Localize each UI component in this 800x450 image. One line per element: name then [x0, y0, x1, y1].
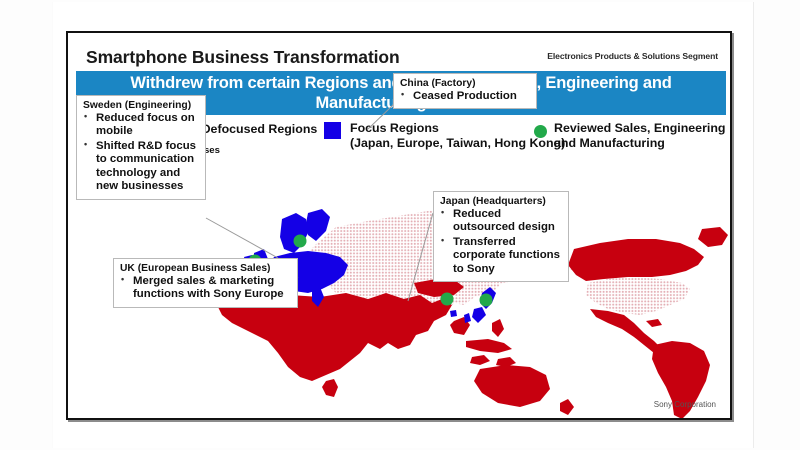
callout-japan[interactable]: Japan (Headquarters) Reduced outsourced …	[433, 191, 569, 282]
callout-uk-title: UK (European Business Sales)	[120, 263, 291, 274]
legend-label-reviewed-line2: and Manufacturing	[554, 136, 665, 150]
callout-china-bullet-1: Ceased Production	[400, 90, 530, 103]
callout-japan-title: Japan (Headquarters)	[440, 196, 562, 207]
page-title: Smartphone Business Transformation	[86, 47, 400, 68]
callout-japan-bullet-1: Reduced outsourced design	[440, 208, 562, 235]
legend-label-focus-line1: Focus Regions	[350, 121, 439, 135]
callout-uk[interactable]: UK (European Business Sales) Merged sale…	[113, 258, 298, 308]
legend-swatch-green-circle	[534, 125, 547, 138]
callout-uk-bullet-1: Merged sales & marketing functions with …	[120, 275, 291, 302]
callout-sweden-list: Reduced focus on mobile Shifted R&D focu…	[83, 112, 199, 194]
legend-label-focus-line2: (Japan, Europe, Taiwan, Hong Kong)	[350, 136, 565, 150]
footer-credit: Sony Corporation	[654, 400, 716, 409]
callout-uk-list: Merged sales & marketing functions with …	[120, 275, 291, 302]
segment-label: Electronics Products & Solutions Segment	[547, 51, 718, 61]
marker-sweden	[294, 235, 307, 248]
callout-china[interactable]: China (Factory) Ceased Production	[393, 73, 537, 109]
callout-sweden-bullet-2: Shifted R&D focus to communication techn…	[83, 140, 199, 194]
legend-label-reviewed: Reviewed Sales, Engineering and Manufact…	[554, 121, 725, 150]
callout-sweden-title: Sweden (Engineering)	[83, 100, 199, 111]
legend-label-reviewed-line1: Reviewed Sales, Engineering	[554, 121, 725, 135]
callout-japan-bullet-2: Transferred corporate functions to Sony	[440, 236, 562, 276]
callout-china-list: Ceased Production	[400, 90, 530, 103]
legend-label-focus: Focus Regions (Japan, Europe, Taiwan, Ho…	[350, 121, 565, 150]
callout-china-title: China (Factory)	[400, 78, 530, 89]
callout-sweden-bullet-1: Reduced focus on mobile	[83, 112, 199, 139]
marker-japan	[480, 294, 493, 307]
callout-sweden[interactable]: Sweden (Engineering) Reduced focus on mo…	[76, 95, 206, 200]
callout-japan-list: Reduced outsourced design Transferred co…	[440, 208, 562, 276]
presentation-slide: Smartphone Business Transformation Elect…	[66, 31, 732, 420]
legend-swatch-blue-square	[324, 122, 341, 139]
marker-china	[441, 293, 454, 306]
